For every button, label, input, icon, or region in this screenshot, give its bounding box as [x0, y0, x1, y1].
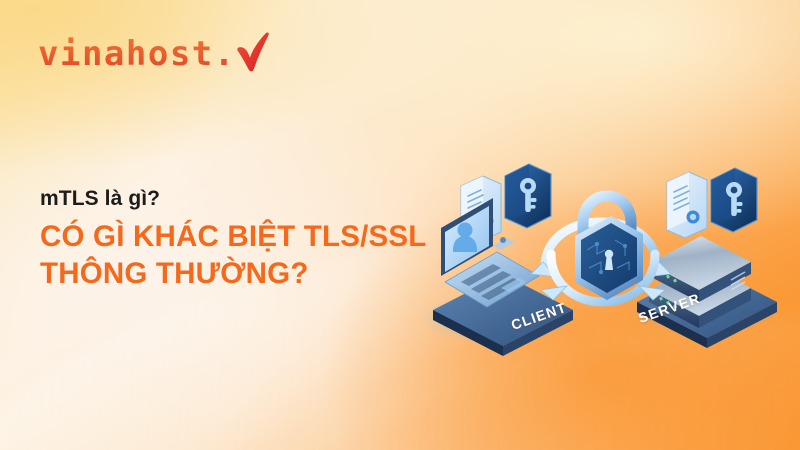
illustration-svg [415, 150, 785, 380]
key-card-icon-right [711, 168, 757, 232]
headline-line-2: THÔNG THƯỜNG? [40, 255, 470, 292]
headline-block: mTLS là gì? CÓ GÌ KHÁC BIỆT TLS/SSL THÔN… [40, 186, 470, 293]
certificate-document-icon-right [667, 172, 707, 238]
mtls-client-server-illustration: CLIENT SERVER [415, 150, 785, 380]
padlock-icon [575, 196, 643, 300]
red-check-swoosh-icon [236, 31, 270, 73]
logo-wordmark: vinahost. [38, 37, 236, 71]
headline-line-1: CÓ GÌ KHÁC BIỆT TLS/SSL [40, 218, 470, 255]
banner-canvas: vinahost. mTLS là gì? CÓ GÌ KHÁC BIỆT TL… [0, 0, 800, 450]
headline-eyebrow: mTLS là gì? [40, 186, 470, 212]
secondary-user-badge [493, 237, 515, 250]
key-card-icon-left [505, 164, 551, 228]
vinahost-logo[interactable]: vinahost. [38, 31, 270, 71]
